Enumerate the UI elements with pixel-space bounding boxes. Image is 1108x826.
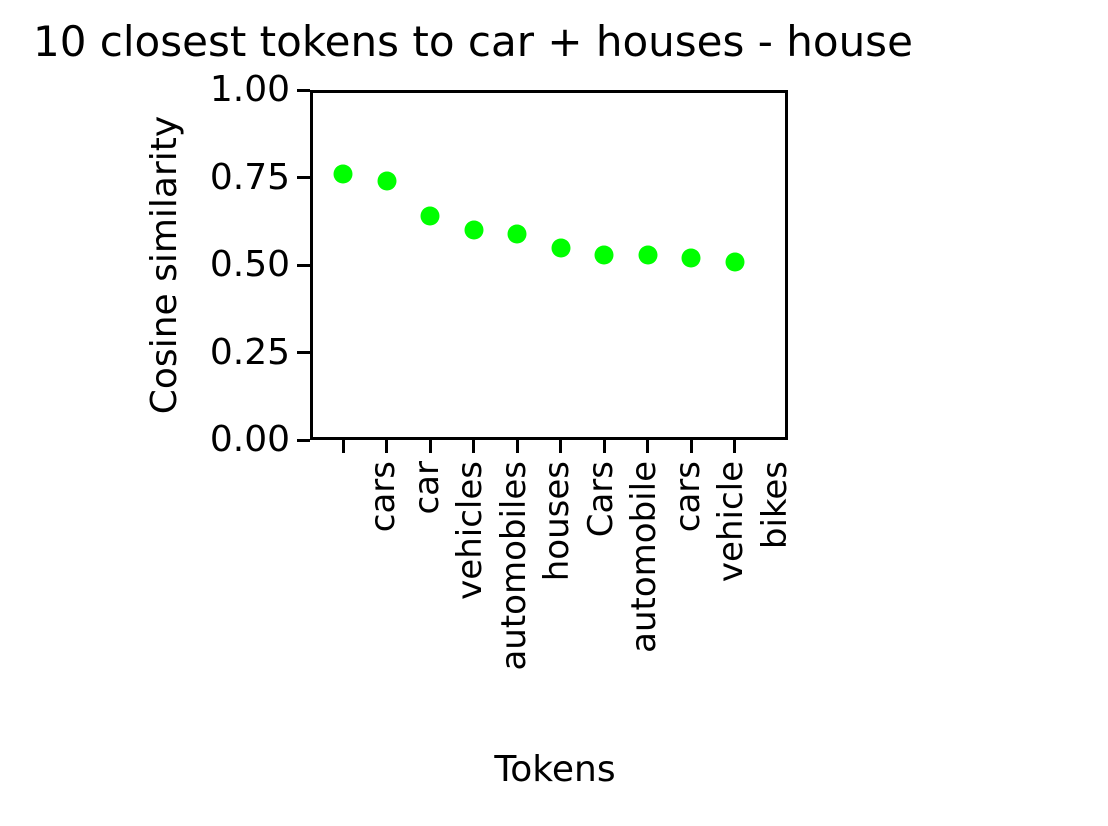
x-axis-tick-mark xyxy=(603,440,606,453)
x-axis-tick-mark xyxy=(733,440,736,453)
chart-title: 10 closest tokens to car + houses - hous… xyxy=(33,18,913,66)
x-axis-tick-mark xyxy=(690,440,693,453)
x-axis-tick-label-text: houses xyxy=(540,461,574,581)
y-axis-tick-label: 0.75 xyxy=(210,160,290,196)
y-axis-tick-mark xyxy=(297,351,310,354)
y-axis-tick-label: 0.25 xyxy=(210,335,290,371)
x-axis-tick-label: Cars xyxy=(573,461,607,537)
x-axis-tick-label-text: cars xyxy=(366,461,400,532)
y-axis-tick-mark xyxy=(297,89,310,92)
x-axis-tick-label: bikes xyxy=(747,461,781,549)
x-axis-tick-label-text: car xyxy=(410,461,444,515)
x-axis-tick-mark xyxy=(385,440,388,453)
y-axis-tick-mark xyxy=(297,439,310,442)
y-axis-tick-label: 1.00 xyxy=(210,72,290,108)
x-axis-tick-label: car xyxy=(399,461,433,515)
x-axis-tick-label: vehicle xyxy=(703,461,737,582)
x-axis-tick-label: automobiles xyxy=(486,461,520,671)
x-axis-tick-label: houses xyxy=(529,461,563,581)
y-axis-tick-label: 0.50 xyxy=(210,247,290,283)
x-axis-tick-label: automobile xyxy=(616,461,650,653)
x-axis-title: Tokens xyxy=(494,752,615,788)
x-axis-tick-label-text: bikes xyxy=(758,461,792,549)
plot-area-frame xyxy=(310,90,788,440)
x-axis-tick-label-text: vehicle xyxy=(714,461,748,582)
x-axis-tick-mark xyxy=(472,440,475,453)
y-axis-tick-mark xyxy=(297,264,310,267)
x-axis-tick-label-text: automobiles xyxy=(497,461,531,671)
x-axis-tick-mark xyxy=(646,440,649,453)
x-axis-tick-mark xyxy=(429,440,432,453)
y-axis-tick-label: 0.00 xyxy=(210,422,290,458)
x-axis-tick-label: cars xyxy=(660,461,694,532)
x-axis-tick-label-text: vehicles xyxy=(453,461,487,600)
chart-figure: 10 closest tokens to car + houses - hous… xyxy=(0,0,1108,826)
x-axis-tick-label: cars xyxy=(355,461,389,532)
x-axis-tick-label-text: Cars xyxy=(584,461,618,537)
x-axis-tick-label-text: cars xyxy=(671,461,705,532)
x-axis-tick-label: vehicles xyxy=(442,461,476,600)
x-axis-tick-mark xyxy=(342,440,345,453)
x-axis-tick-label-text: automobile xyxy=(627,461,661,653)
y-axis-title: Cosine similarity xyxy=(147,116,183,414)
x-axis-tick-mark xyxy=(559,440,562,453)
x-axis-tick-mark xyxy=(516,440,519,453)
y-axis-tick-mark xyxy=(297,176,310,179)
